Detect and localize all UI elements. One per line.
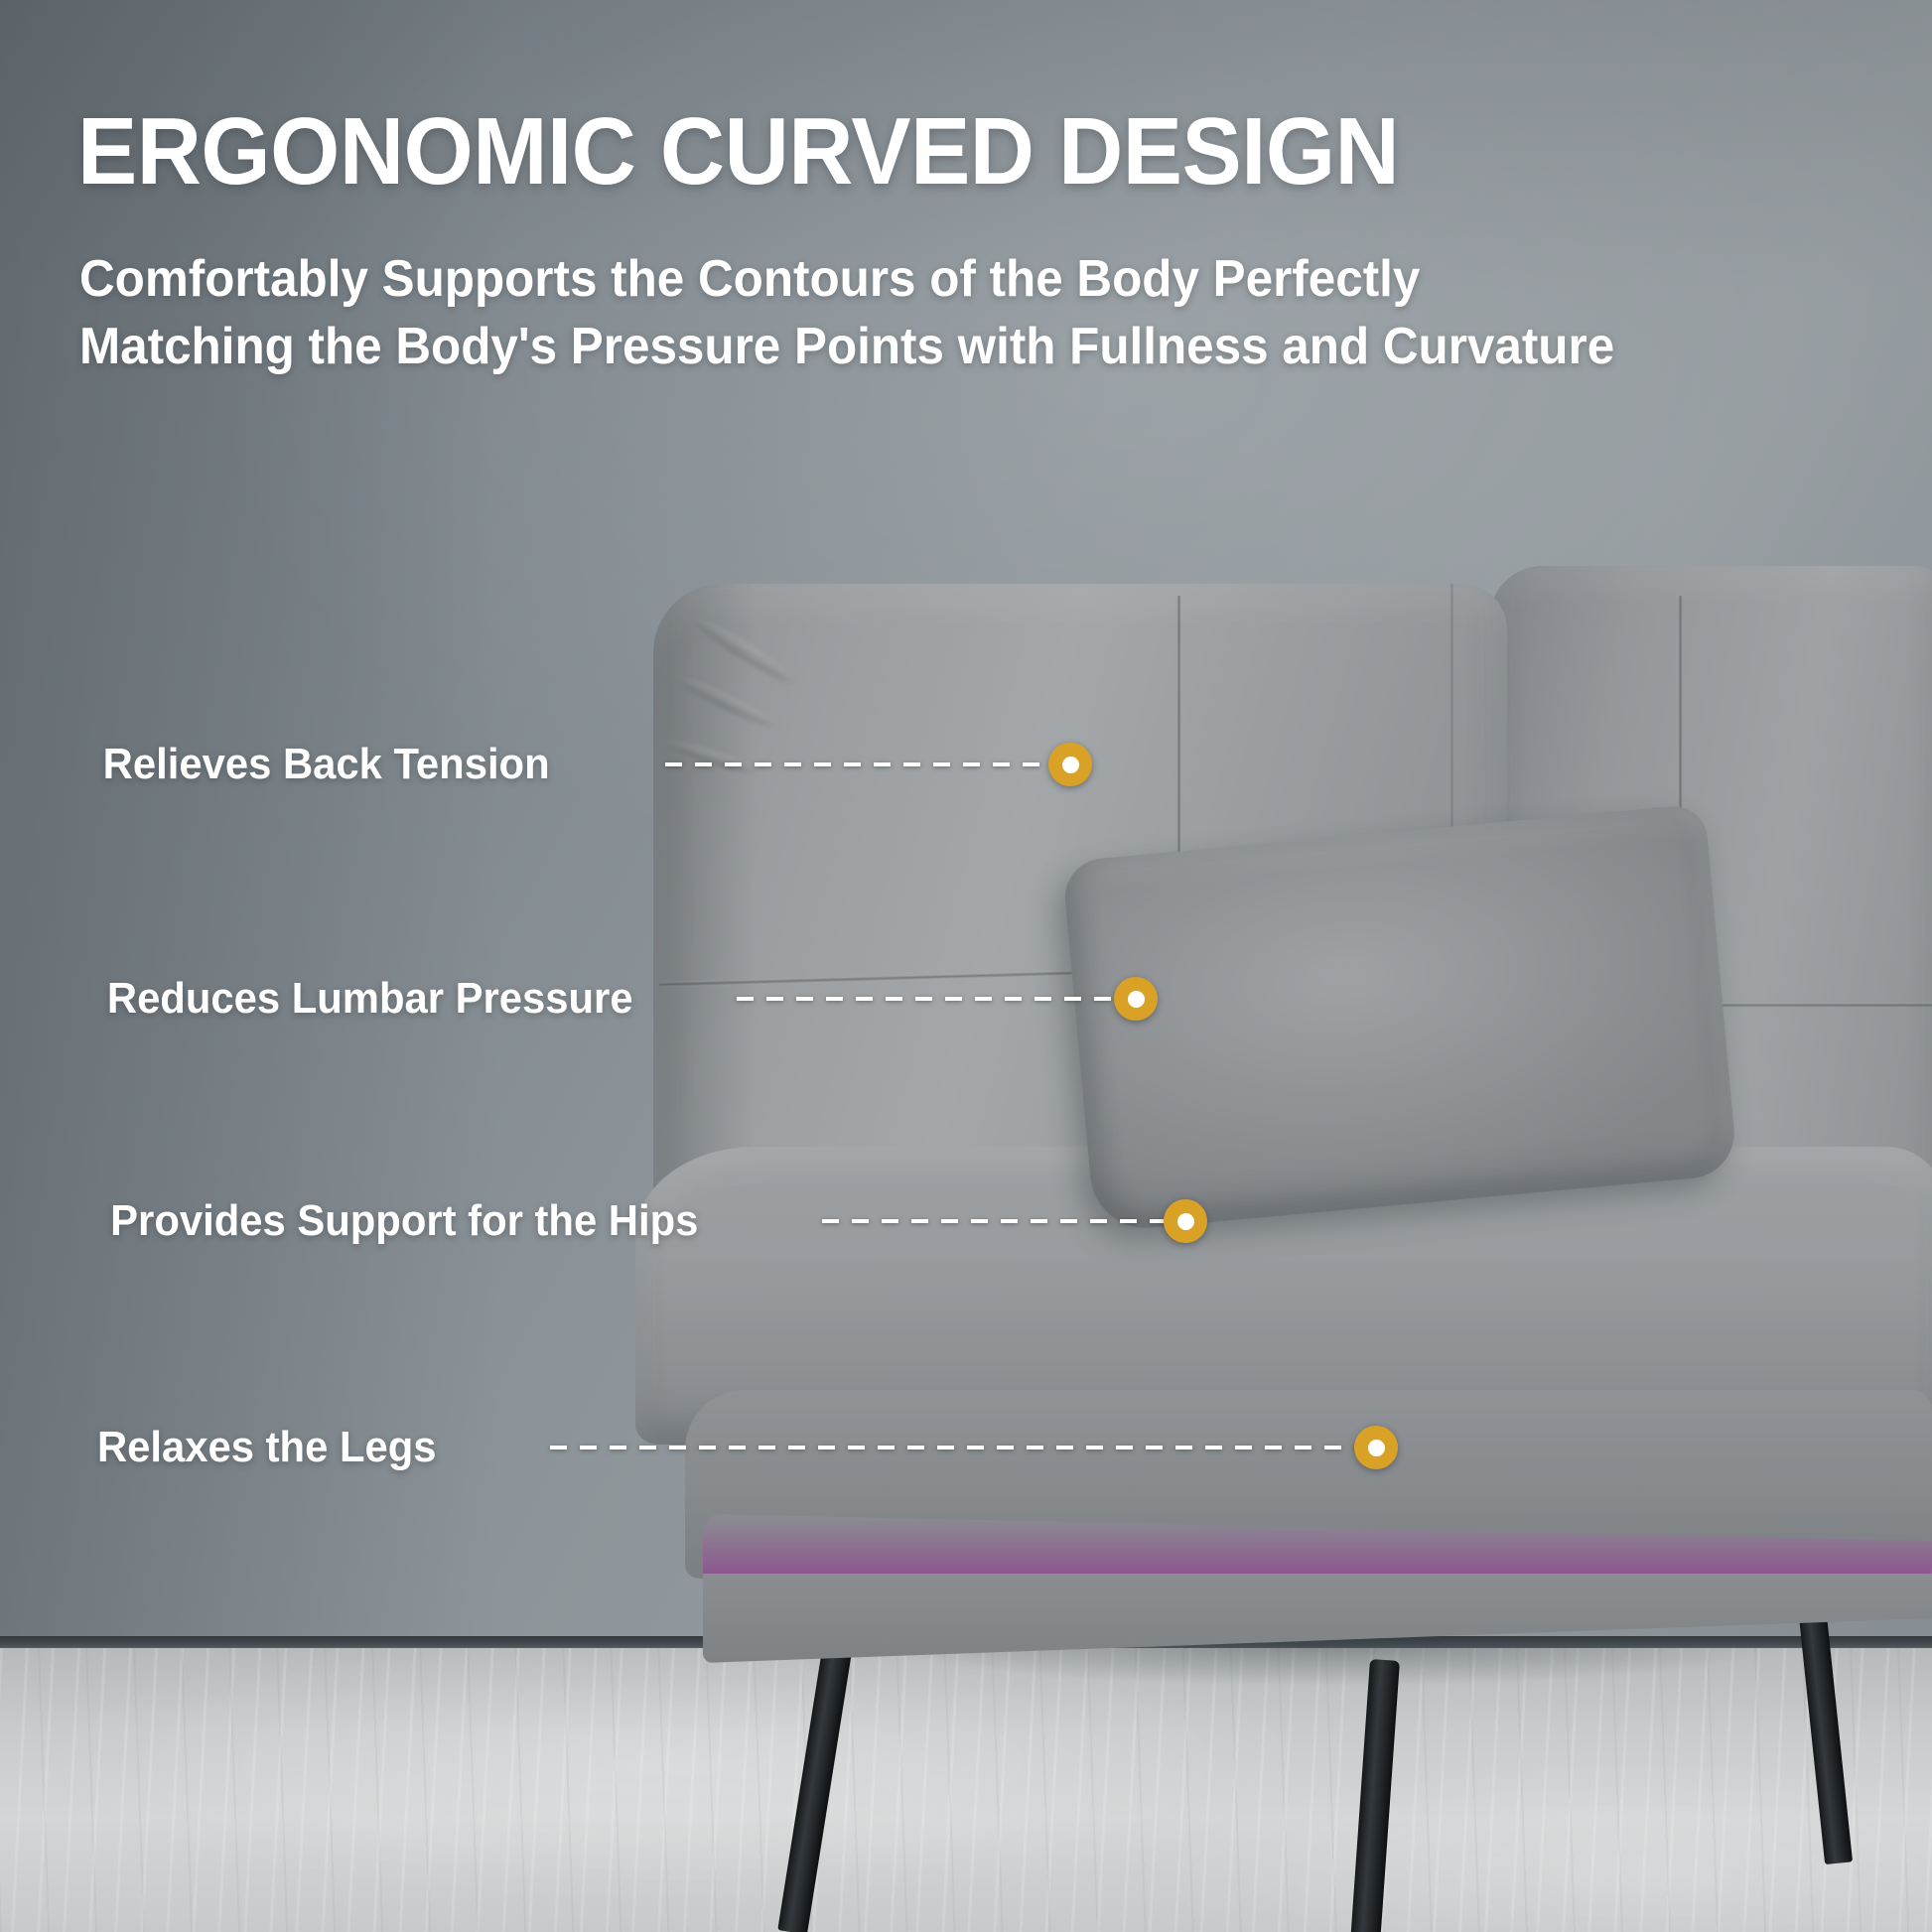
pressure-point-marker[interactable] bbox=[1114, 977, 1158, 1021]
callout-leader-line bbox=[550, 1446, 1362, 1449]
callout-label: Reduces Lumbar Pressure bbox=[107, 974, 633, 1024]
text-overlay: ERGONOMIC CURVED DESIGN Comfortably Supp… bbox=[0, 0, 1932, 1932]
page-title: ERGONOMIC CURVED DESIGN bbox=[77, 103, 1399, 201]
subtitle-line-2: Matching the Body's Pressure Points with… bbox=[79, 314, 1777, 381]
callout-leader-line bbox=[737, 997, 1122, 1001]
callout-reduces-lumbar-pressure: Reduces Lumbar Pressure bbox=[79, 971, 1072, 1027]
callout-label: Relieves Back Tension bbox=[103, 740, 550, 789]
callout-leader-line bbox=[822, 1219, 1172, 1223]
pressure-point-marker[interactable] bbox=[1164, 1199, 1207, 1243]
page-subtitle: Comfortably Supports the Contours of the… bbox=[79, 246, 1777, 380]
callout-relaxes-the-legs: Relaxes the Legs bbox=[79, 1420, 1301, 1475]
pressure-point-marker[interactable] bbox=[1048, 743, 1092, 786]
callout-leader-line bbox=[665, 762, 1056, 766]
subtitle-line-1: Comfortably Supports the Contours of the… bbox=[79, 246, 1777, 314]
pressure-point-marker[interactable] bbox=[1354, 1426, 1398, 1469]
callout-relieves-back-tension: Relieves Back Tension bbox=[79, 737, 1003, 792]
callout-provides-support-for-the-hips: Provides Support for the Hips bbox=[79, 1193, 1132, 1249]
callout-label: Provides Support for the Hips bbox=[110, 1196, 698, 1246]
callout-label: Relaxes the Legs bbox=[97, 1423, 437, 1472]
